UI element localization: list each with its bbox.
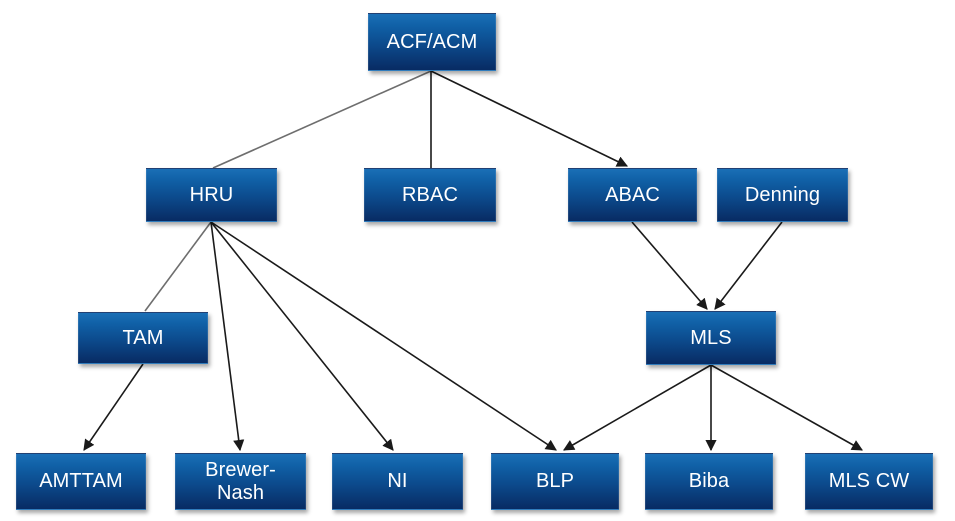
node-label-rbac: RBAC	[365, 184, 495, 206]
edge-abac-to-mls	[632, 222, 707, 309]
node-label-denning: Denning	[718, 184, 847, 206]
node-label-mls: MLS	[647, 327, 775, 349]
node-amttam[interactable]: AMTTAM	[16, 453, 146, 510]
node-abac[interactable]: ABAC	[568, 168, 697, 222]
node-denning[interactable]: Denning	[717, 168, 848, 222]
diagram-canvas: ACF/ACMHRURBACABACDenningTAMMLSAMTTAMBre…	[0, 0, 955, 521]
node-ni[interactable]: NI	[332, 453, 463, 510]
node-label-hru: HRU	[147, 184, 276, 206]
node-tam[interactable]: TAM	[78, 312, 208, 364]
node-hru[interactable]: HRU	[146, 168, 277, 222]
edge-mls-to-blp	[564, 365, 711, 450]
node-acf_acm[interactable]: ACF/ACM	[368, 13, 496, 71]
node-label-brewer_nash: Brewer- Nash	[176, 459, 305, 504]
edge-acf_acm-to-abac	[431, 71, 627, 166]
edge-tam-to-amttam	[84, 364, 143, 450]
node-label-amttam: AMTTAM	[17, 470, 145, 492]
edge-denning-to-mls	[715, 222, 782, 309]
node-biba[interactable]: Biba	[645, 453, 773, 510]
node-blp[interactable]: BLP	[491, 453, 619, 510]
edge-mls-to-mls_cw	[711, 365, 862, 450]
node-label-acf_acm: ACF/ACM	[369, 31, 495, 53]
node-label-abac: ABAC	[569, 184, 696, 206]
edge-hru-to-brewer_nash	[211, 222, 240, 450]
node-label-biba: Biba	[646, 470, 772, 492]
node-mls[interactable]: MLS	[646, 311, 776, 365]
edges-group	[84, 71, 862, 450]
edge-acf_acm-to-hru	[213, 71, 431, 168]
node-label-ni: NI	[333, 470, 462, 492]
edge-layer	[0, 0, 955, 521]
node-mls_cw[interactable]: MLS CW	[805, 453, 933, 510]
node-label-blp: BLP	[492, 470, 618, 492]
node-rbac[interactable]: RBAC	[364, 168, 496, 222]
node-label-tam: TAM	[79, 327, 207, 349]
edge-hru-to-tam	[145, 222, 211, 311]
node-label-mls_cw: MLS CW	[806, 470, 932, 492]
node-brewer_nash[interactable]: Brewer- Nash	[175, 453, 306, 510]
edge-hru-to-blp	[211, 222, 556, 450]
edge-hru-to-ni	[211, 222, 393, 450]
